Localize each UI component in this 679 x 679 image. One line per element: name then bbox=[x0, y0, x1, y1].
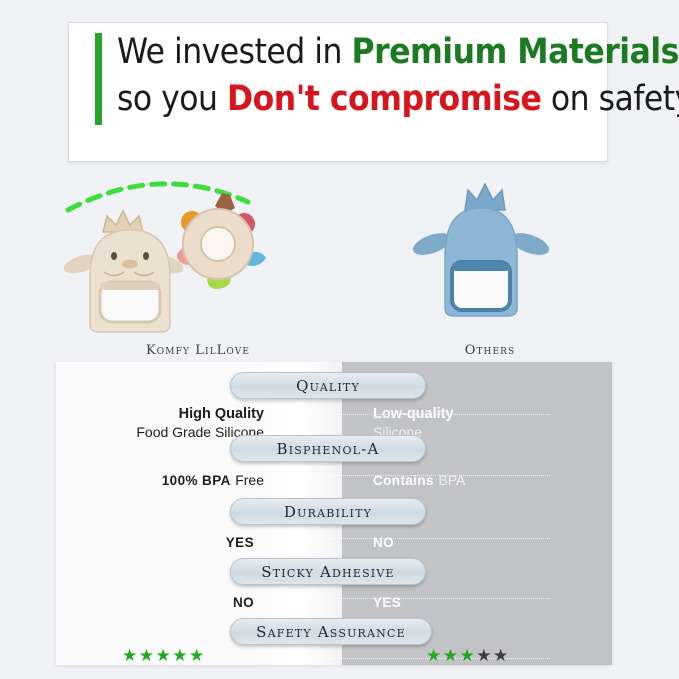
cell-value-strong: YES bbox=[226, 534, 254, 552]
headline-line2-post: on safety bbox=[541, 79, 679, 119]
rating-stars-others: ★★★★★ bbox=[426, 646, 510, 665]
cell-komfy-sticky-adhesive: NO bbox=[233, 594, 254, 612]
headline-line2-pre: so you bbox=[117, 79, 227, 119]
headline-line-1: We invested in Premium Materials bbox=[117, 29, 601, 76]
product-showcase: Komfy LilLove Others bbox=[0, 172, 679, 362]
cell-value-normal: Free bbox=[235, 472, 264, 488]
cell-komfy-bisphenol-a: 100% BPA Free bbox=[162, 471, 264, 490]
others-product-icon bbox=[340, 172, 640, 334]
row-pill-quality: Quality bbox=[230, 372, 426, 399]
star-icon: ★ bbox=[122, 646, 139, 665]
table-row: Safety Assurance ★★★★★ ★★★★★ bbox=[56, 618, 612, 665]
row-guide bbox=[130, 598, 550, 600]
headline-line2-highlight: Don't compromise bbox=[227, 79, 541, 119]
comparison-table: Quality High Quality Food Grade Silicone… bbox=[56, 362, 612, 665]
table-row: Durability YES NO bbox=[56, 498, 612, 558]
row-pill-safety-assurance: Safety Assurance bbox=[230, 618, 432, 645]
row-pill-durability: Durability bbox=[230, 498, 426, 525]
cell-value-normal: BPA bbox=[438, 472, 465, 488]
rating-stars-komfy: ★★★★★ bbox=[122, 646, 206, 665]
row-pill-bisphenol-a: Bisphenol-A bbox=[230, 435, 426, 462]
star-icon: ★ bbox=[443, 646, 460, 665]
headline-line1-highlight: Premium Materials bbox=[352, 32, 679, 72]
cell-komfy-durability: YES bbox=[226, 534, 254, 552]
cell-value-strong: Low-quality bbox=[373, 405, 454, 423]
cell-value-strong: YES bbox=[373, 594, 401, 612]
product-cell-komfy: Komfy LilLove bbox=[48, 172, 348, 362]
cell-value-strong: NO bbox=[233, 594, 254, 612]
star-icon: ★ bbox=[139, 646, 156, 665]
headline-line1-pre: We invested in bbox=[117, 32, 352, 72]
star-icon: ★ bbox=[460, 646, 477, 665]
cell-others-durability: NO bbox=[373, 534, 394, 552]
table-row: Sticky Adhesive NO YES bbox=[56, 558, 612, 618]
product-label-others: Others bbox=[340, 343, 640, 358]
cell-others-bisphenol-a: Contains BPA bbox=[373, 471, 465, 490]
product-cell-others: Others bbox=[340, 172, 640, 362]
star-icon: ★ bbox=[476, 646, 493, 665]
cell-value-strong: High Quality bbox=[136, 405, 264, 423]
table-row: Quality High Quality Food Grade Silicone… bbox=[56, 372, 612, 432]
row-pill-sticky-adhesive: Sticky Adhesive bbox=[230, 558, 426, 585]
cell-others-sticky-adhesive: YES bbox=[373, 594, 401, 612]
headline-banner: We invested in Premium Materials so you … bbox=[68, 22, 608, 162]
table-row: Bisphenol-A 100% BPA Free Contains BPA bbox=[56, 435, 612, 495]
headline-text: We invested in Premium Materials so you … bbox=[117, 29, 601, 123]
product-label-komfy: Komfy LilLove bbox=[48, 343, 348, 358]
row-guide bbox=[130, 538, 550, 540]
star-icon: ★ bbox=[189, 646, 206, 665]
komfy-lillove-product-icon bbox=[48, 172, 348, 334]
star-icon: ★ bbox=[156, 646, 173, 665]
star-icon: ★ bbox=[426, 646, 443, 665]
cell-value-strong: 100% BPA bbox=[162, 473, 231, 488]
cell-value-strong: Contains bbox=[373, 473, 434, 488]
headline-accent-bar bbox=[95, 33, 102, 125]
star-icon: ★ bbox=[172, 646, 189, 665]
cell-value-strong: NO bbox=[373, 534, 394, 552]
headline-line-2: so you Don't compromise on safety bbox=[117, 76, 601, 123]
star-icon: ★ bbox=[493, 646, 510, 665]
